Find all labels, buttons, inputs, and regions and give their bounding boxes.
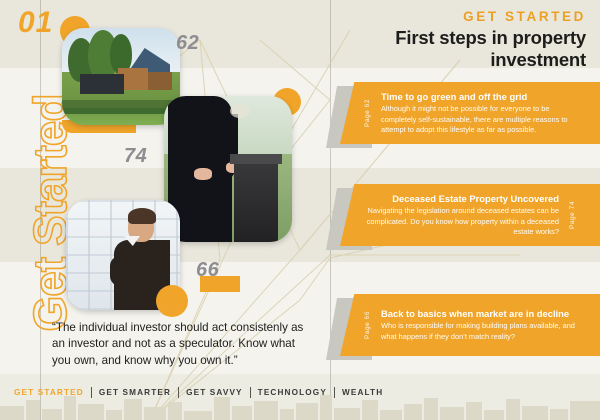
article-card-3[interactable]: Page 66 Back to basics when market are i…: [340, 294, 600, 356]
article-title-3: Back to basics when market are in declin…: [381, 308, 586, 319]
page-title-line2: investment: [286, 49, 586, 71]
article-page-tag-2: Page 74: [569, 201, 576, 229]
article-title-2: Deceased Estate Property Uncovered: [356, 193, 559, 204]
thumbnail-number-3: 66: [196, 259, 219, 282]
nav-item-wealth[interactable]: WEALTH: [335, 388, 390, 397]
nav-item-get-smarter[interactable]: GET SMARTER: [92, 388, 178, 397]
article-card-1-surface[interactable]: Page 62 Time to go green and off the gri…: [340, 82, 600, 144]
page-header: GET STARTED First steps in property inve…: [286, 10, 586, 71]
thumbnail-number-2: 74: [124, 145, 147, 168]
article-description-2: Navigating the legislation around deceas…: [356, 206, 559, 237]
article-title-1: Time to go green and off the grid: [381, 91, 586, 102]
nav-item-get-started[interactable]: GET STARTED: [14, 388, 91, 397]
page-title-line1: First steps in property: [286, 27, 586, 49]
modern-house-photo[interactable]: [62, 28, 180, 125]
article-description-3: Who is responsible for making building p…: [381, 321, 586, 341]
footer-navigation[interactable]: GET STARTED GET SMARTER GET SAVVY TECHNO…: [14, 387, 390, 398]
article-card-1[interactable]: Page 62 Time to go green and off the gri…: [340, 82, 600, 144]
woman-at-gravestone-photo[interactable]: [164, 96, 292, 242]
article-page-tag-3: Page 66: [364, 311, 371, 339]
thumbnail-number-1: 62: [176, 32, 199, 55]
magazine-contents-page: 01 Get Started GET STARTED First steps i…: [0, 0, 600, 420]
article-card-2-surface[interactable]: Deceased Estate Property Uncovered Navig…: [340, 184, 600, 246]
nav-item-get-savvy[interactable]: GET SAVVY: [179, 388, 250, 397]
article-card-2[interactable]: Deceased Estate Property Uncovered Navig…: [340, 184, 600, 246]
header-kicker: GET STARTED: [286, 10, 586, 25]
nav-item-technology[interactable]: TECHNOLOGY: [251, 388, 334, 397]
article-description-1: Although it might not be possible for ev…: [381, 104, 586, 135]
issue-number: 01: [18, 6, 53, 40]
orange-circle-decoration-3: [156, 285, 188, 317]
pull-quote: “The individual investor should act cons…: [52, 320, 304, 369]
article-card-3-surface[interactable]: Page 66 Back to basics when market are i…: [340, 294, 600, 356]
page-title: First steps in property investment: [286, 27, 586, 71]
article-page-tag-1: Page 62: [364, 99, 371, 127]
